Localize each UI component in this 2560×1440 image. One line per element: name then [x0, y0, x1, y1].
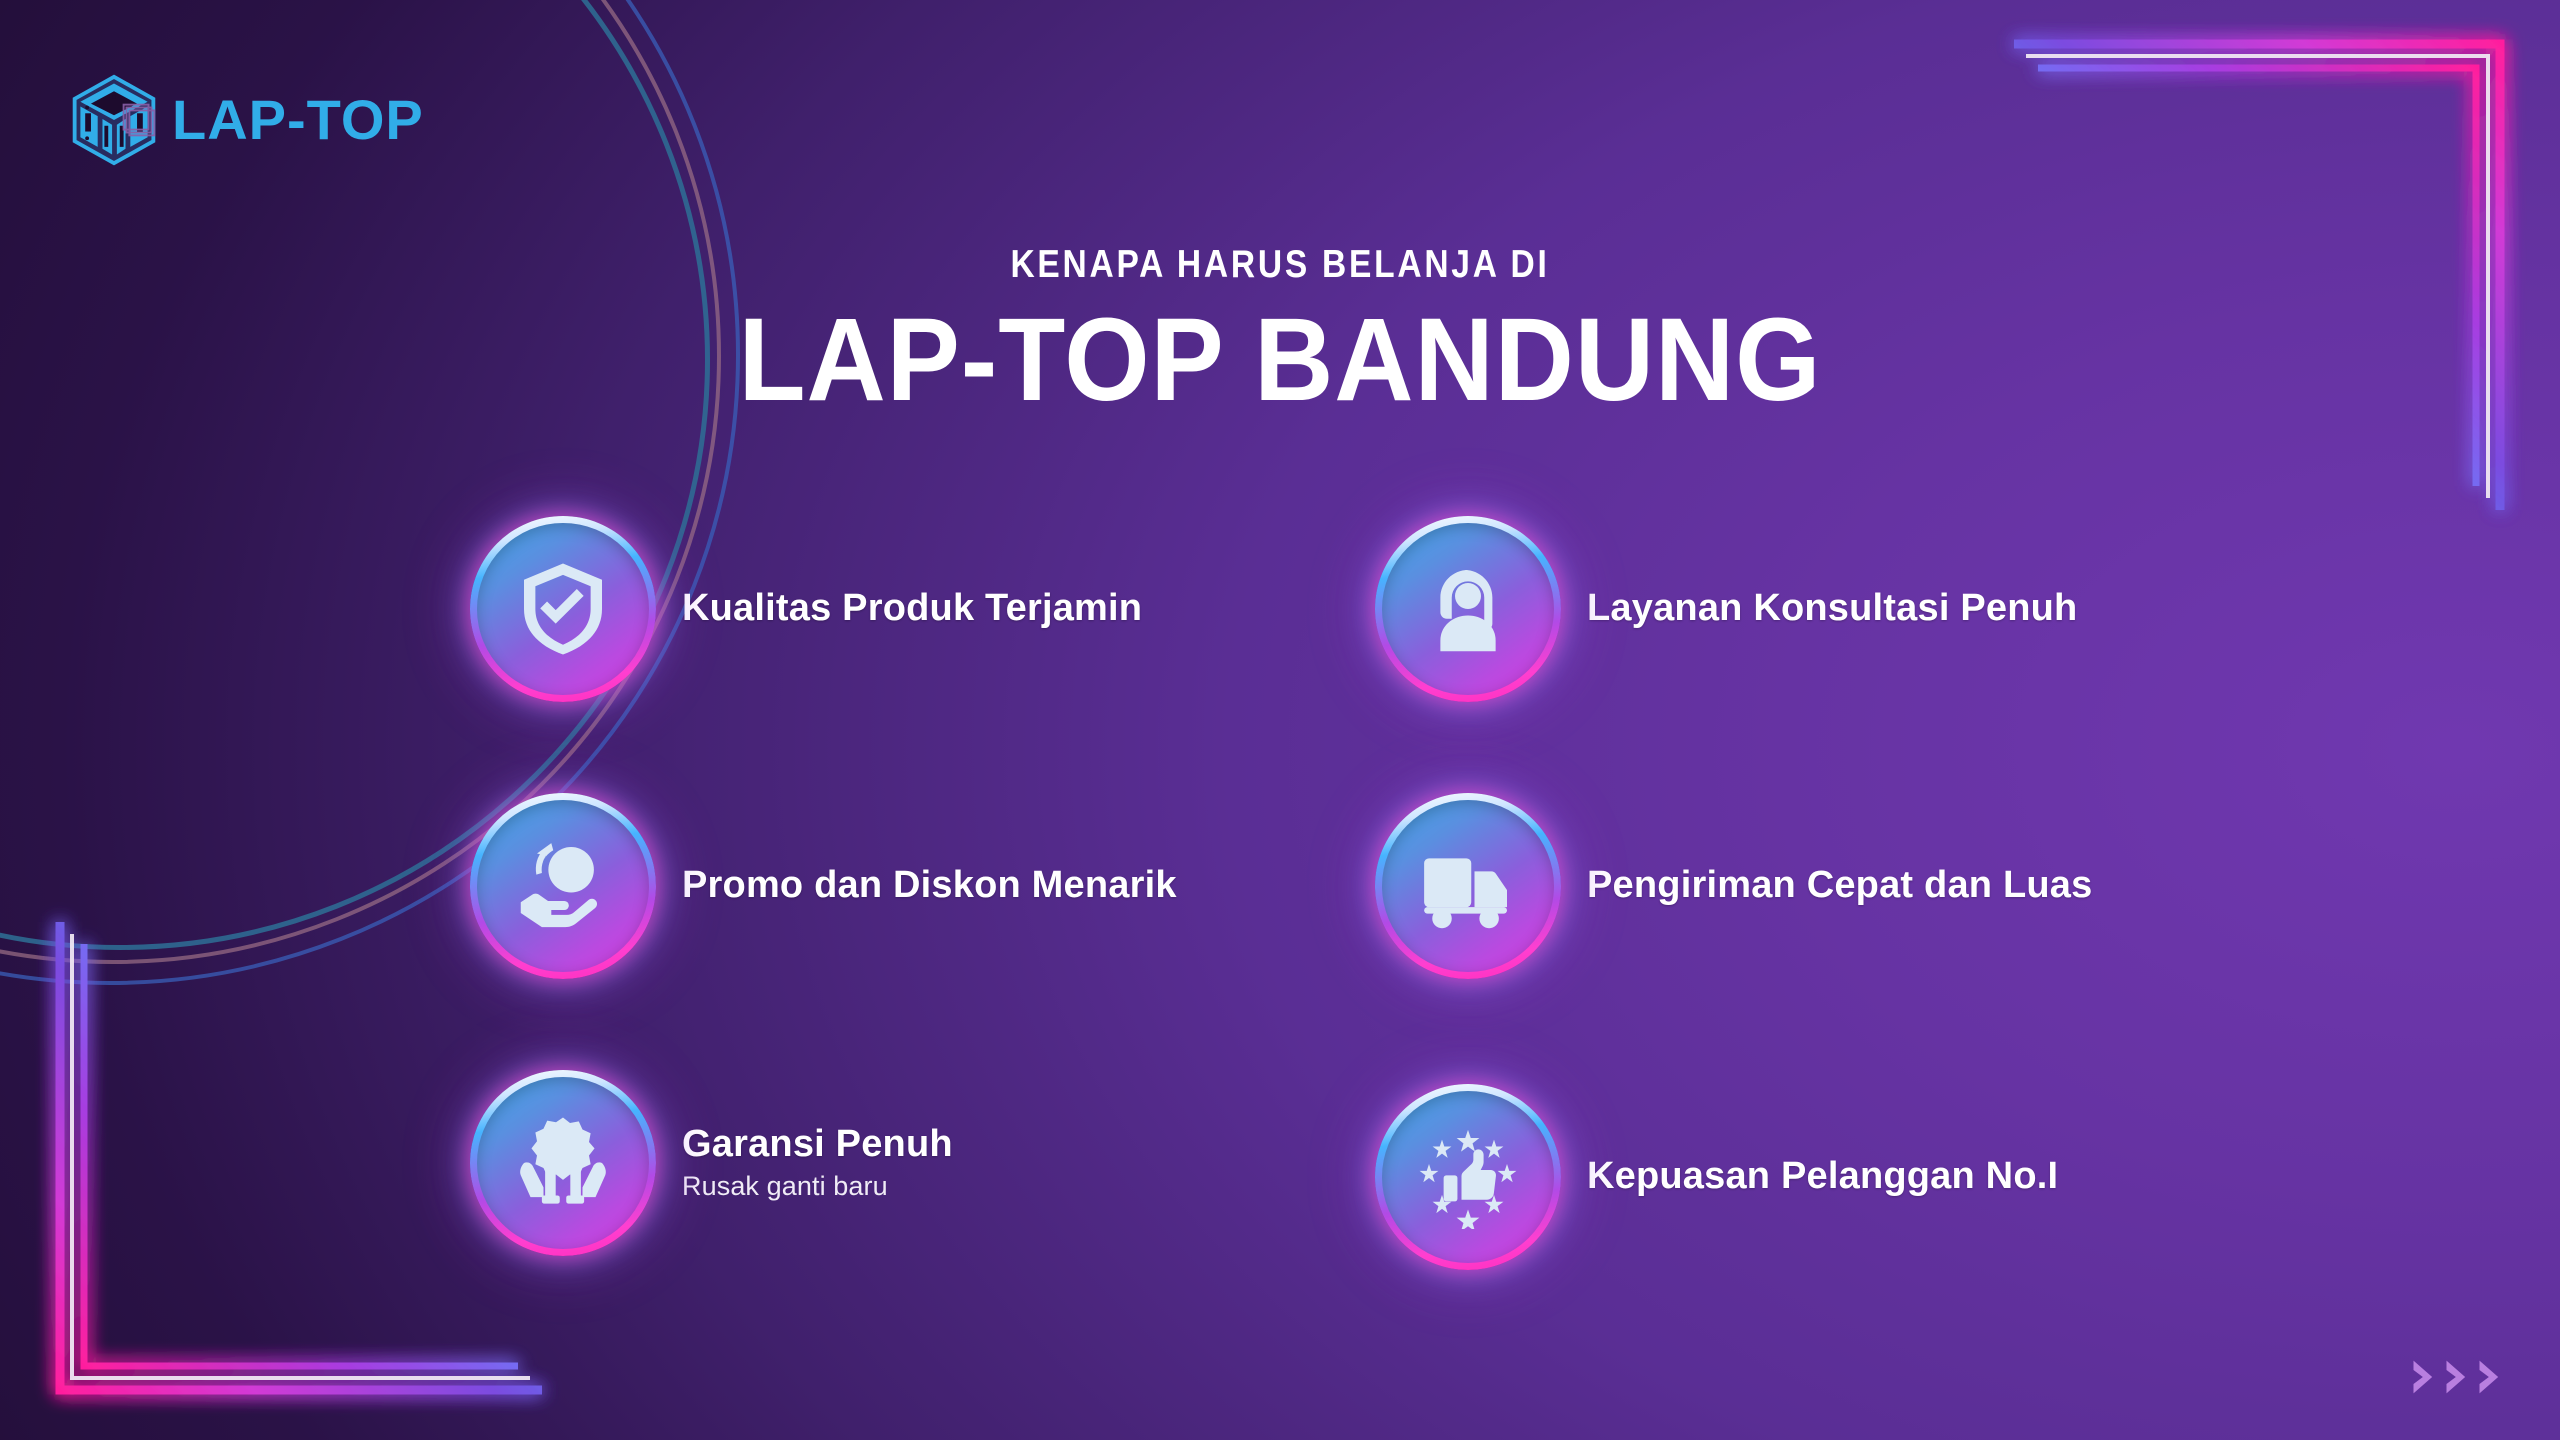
feature-item-quality[interactable]: Kualitas Produk Terjamin: [470, 470, 1325, 747]
thumbs-up-stars-icon: [1416, 1125, 1520, 1229]
feature-title: Kepuasan Pelanggan No.I: [1587, 1154, 2058, 1199]
chevron-right-icon: [2476, 1358, 2504, 1396]
badge-inner: [477, 523, 649, 695]
badge-inner: [1382, 800, 1554, 972]
badge-inner: [477, 800, 649, 972]
poster-canvas: LAP-TOP KENAPA HARUS BELANJA DI LAP-TOP …: [0, 0, 2560, 1440]
heading-block: KENAPA HARUS BELANJA DI LAP-TOP BANDUNG: [0, 245, 2560, 420]
feature-title: Pengiriman Cepat dan Luas: [1587, 863, 2092, 908]
feature-item-consultation[interactable]: Layanan Konsultasi Penuh: [1375, 470, 2230, 747]
feature-title: Layanan Konsultasi Penuh: [1587, 586, 2077, 631]
badge-inner: [1382, 523, 1554, 695]
feature-text: Kualitas Produk Terjamin: [682, 586, 1142, 631]
chevron-right-icon: [2410, 1358, 2438, 1396]
feature-title: Promo dan Diskon Menarik: [682, 863, 1177, 908]
badge-inner: [1382, 1091, 1554, 1263]
brand-logo-text: LAP-TOP: [172, 92, 424, 148]
feature-badge: [1375, 1084, 1561, 1270]
triple-chevron-right-icon: [2410, 1358, 2504, 1396]
hand-money-icon: [511, 834, 615, 938]
feature-title: Garansi Penuh: [682, 1122, 953, 1167]
feature-text: Promo dan Diskon Menarik: [682, 863, 1177, 908]
feature-badge: [1375, 516, 1561, 702]
shield-check-icon: [511, 557, 615, 661]
hands-badge-icon: [511, 1111, 615, 1215]
feature-badge: [470, 516, 656, 702]
feature-text: Layanan Konsultasi Penuh: [1587, 586, 2077, 631]
feature-badge: [470, 1070, 656, 1256]
feature-text: Kepuasan Pelanggan No.I: [1587, 1154, 2058, 1199]
brand-logo[interactable]: LAP-TOP: [66, 72, 424, 168]
feature-subtitle: Rusak ganti baru: [682, 1170, 953, 1202]
feature-item-warranty[interactable]: Garansi Penuh Rusak ganti baru: [470, 1024, 1325, 1301]
feature-item-shipping[interactable]: Pengiriman Cepat dan Luas: [1375, 747, 2230, 1024]
feature-badge: [1375, 793, 1561, 979]
headset-support-icon: [1416, 557, 1520, 661]
feature-text: Garansi Penuh Rusak ganti baru: [682, 1122, 953, 1202]
chevron-right-icon: [2443, 1358, 2471, 1396]
badge-inner: [477, 1077, 649, 1249]
feature-item-promo[interactable]: Promo dan Diskon Menarik: [470, 747, 1325, 1024]
delivery-truck-icon: [1416, 834, 1520, 938]
features-grid: Kualitas Produk Terjamin Layanan Konsult…: [470, 470, 2230, 1300]
feature-text: Pengiriman Cepat dan Luas: [1587, 863, 2092, 908]
cube-box-icon: [66, 72, 162, 168]
feature-title: Kualitas Produk Terjamin: [682, 586, 1142, 631]
feature-item-satisfaction[interactable]: Kepuasan Pelanggan No.I: [1375, 1024, 2230, 1301]
eyebrow-text: KENAPA HARUS BELANJA DI: [179, 245, 2381, 284]
feature-badge: [470, 793, 656, 979]
page-title: LAP-TOP BANDUNG: [90, 300, 2471, 420]
